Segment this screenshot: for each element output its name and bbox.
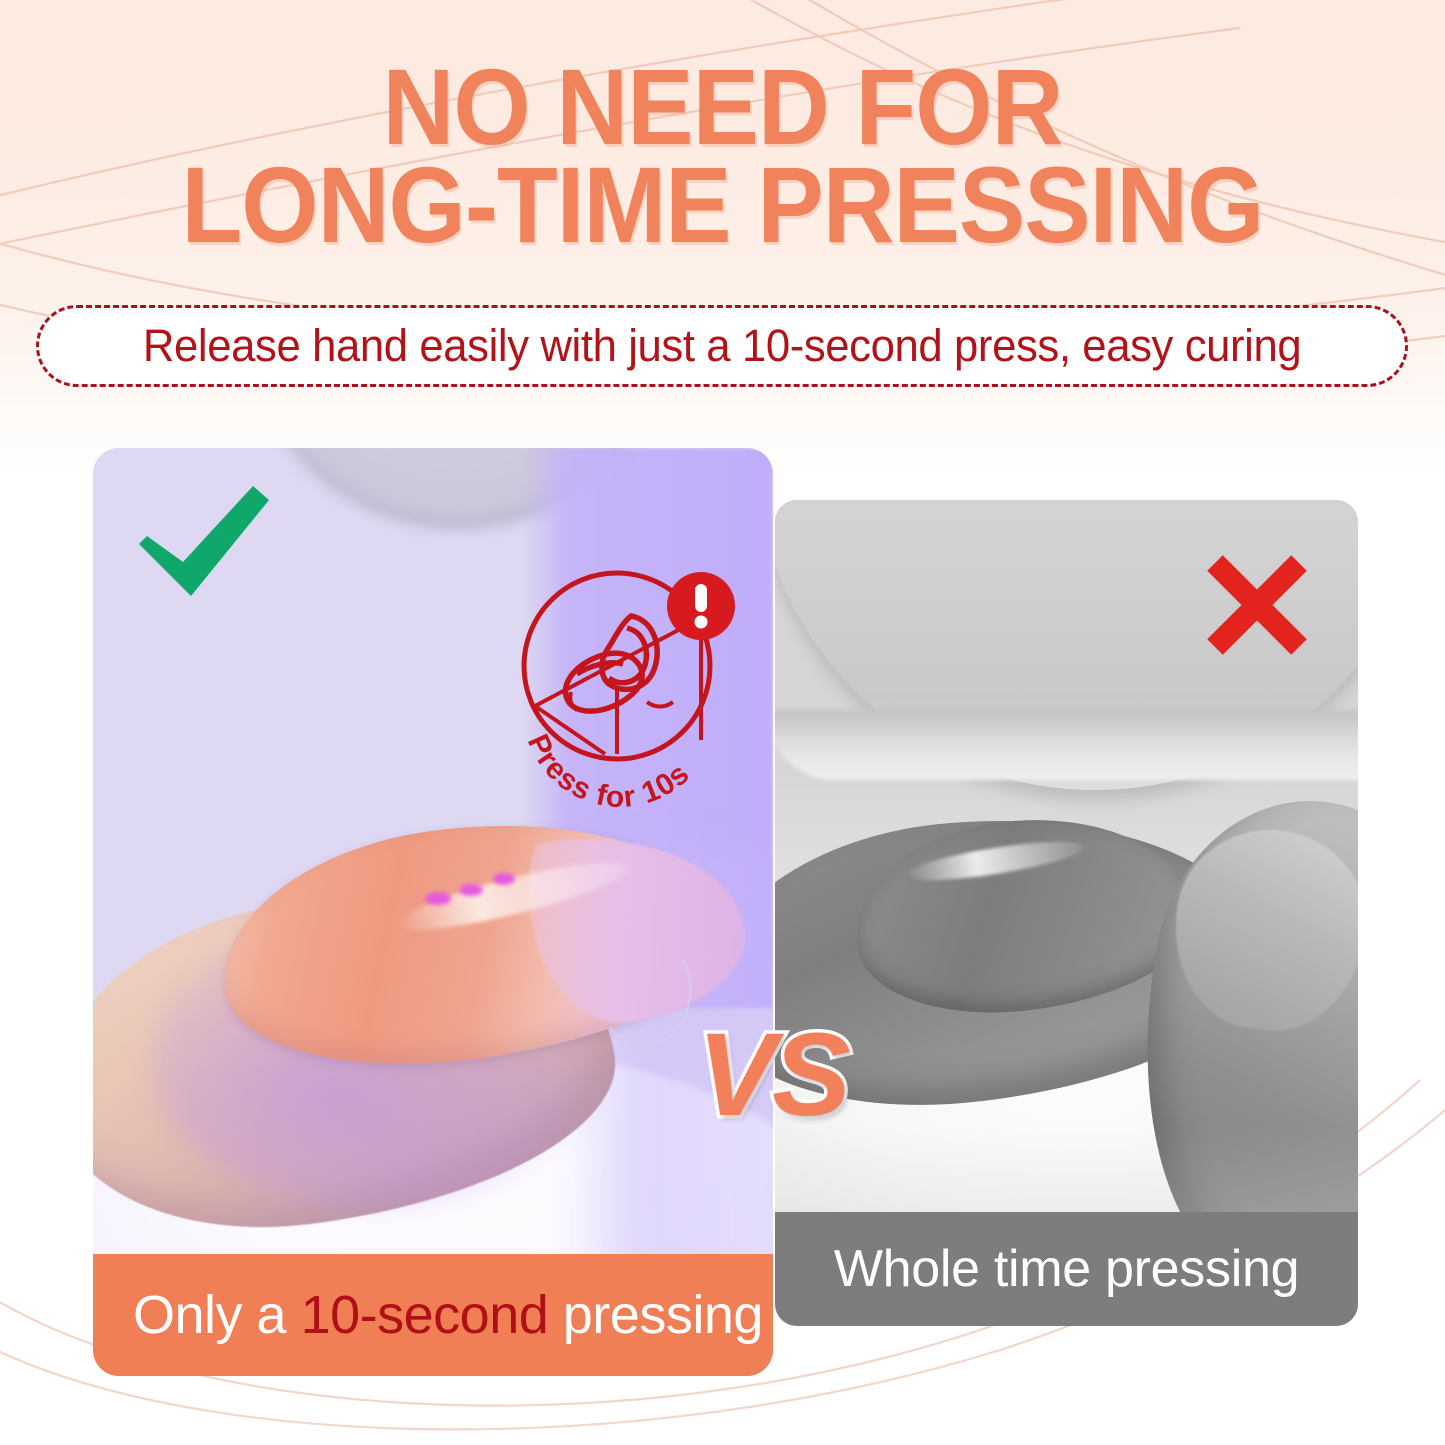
vs-label: VS bbox=[672, 1010, 872, 1140]
alert-badge bbox=[667, 572, 735, 640]
caption-good-highlight: 10-second bbox=[301, 1285, 549, 1345]
cross-icon bbox=[1202, 550, 1312, 660]
caption-good-suffix: pressing bbox=[548, 1285, 763, 1345]
caption-good-text: Only a 10-second pressing bbox=[133, 1284, 763, 1346]
subtitle-banner: Release hand easily with just a 10-secon… bbox=[36, 305, 1408, 387]
panel-good-method: Press for 10s Only a 10-second pressing bbox=[93, 448, 773, 1376]
uv-reflection-dot bbox=[425, 892, 451, 905]
subtitle-text: Release hand easily with just a 10-secon… bbox=[143, 320, 1301, 372]
caption-bad-method: Whole time pressing bbox=[775, 1212, 1358, 1326]
uv-reflection-dot bbox=[493, 873, 515, 885]
panel-bad-method: Whole time pressing bbox=[775, 500, 1358, 1326]
check-icon bbox=[131, 478, 276, 608]
page-title: NO NEED FOR LONG-TIME PRESSING bbox=[58, 58, 1387, 254]
press-finger-icon bbox=[566, 616, 673, 711]
caption-bad-text: Whole time pressing bbox=[834, 1239, 1299, 1299]
caption-good-method: Only a 10-second pressing bbox=[93, 1254, 773, 1376]
caption-good-prefix: Only a bbox=[133, 1285, 301, 1345]
uv-reflection-dot bbox=[459, 884, 483, 896]
lamp-edge-gray bbox=[775, 710, 1358, 780]
press-for-10s-stamp: Press for 10s bbox=[505, 558, 735, 813]
